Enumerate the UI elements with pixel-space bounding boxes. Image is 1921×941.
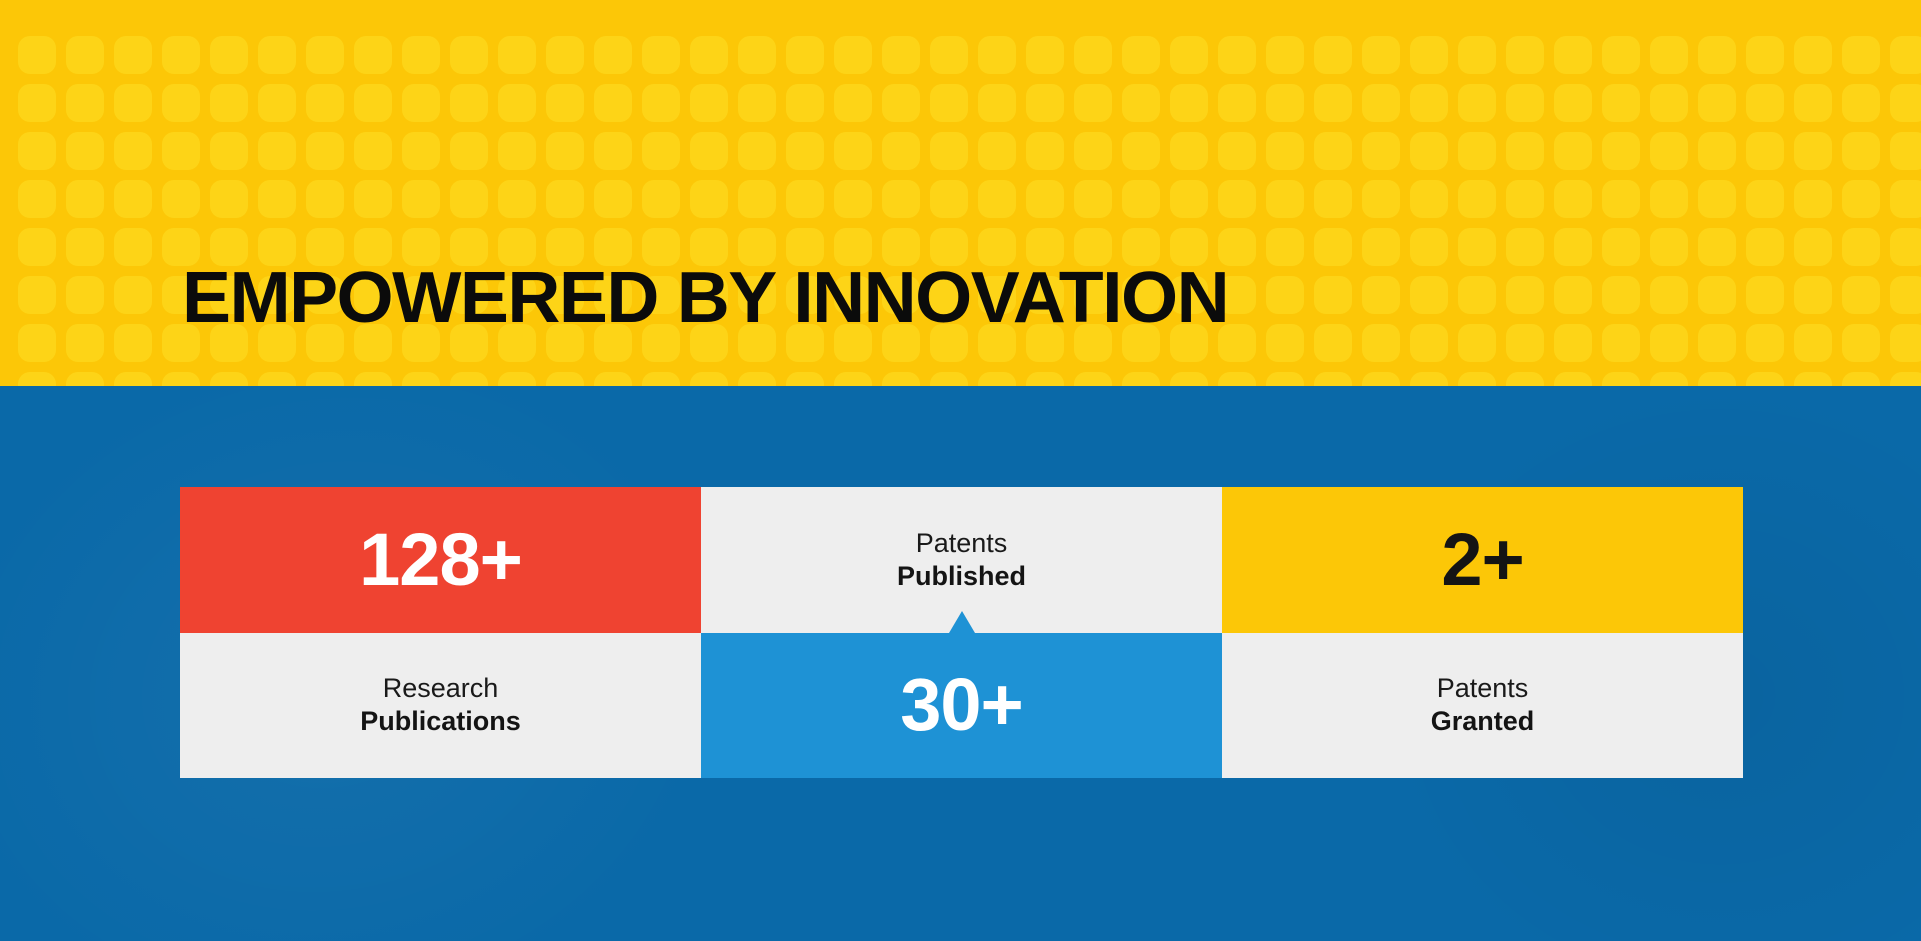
stat-label-bottom: Published (897, 560, 1026, 593)
stat-value-patents-published: 30+ (701, 633, 1222, 779)
stat-label-top: Research (383, 672, 499, 705)
stat-value: 128+ (359, 523, 522, 597)
stat-label-top: Patents (916, 527, 1008, 560)
stat-label-top: Patents (1437, 672, 1529, 705)
stat-label-research-publications: Research Publications (180, 633, 701, 779)
stat-value-patents-granted: 2+ (1222, 487, 1743, 633)
stat-value: 30+ (900, 668, 1023, 742)
stat-value-research-publications: 128+ (180, 487, 701, 633)
stat-value: 2+ (1441, 523, 1523, 597)
infographic-stage: EMPOWERED BY INNOVATION 128+ Patents Pub… (0, 0, 1921, 941)
stat-label-bottom: Granted (1431, 705, 1535, 738)
stats-grid: 128+ Patents Published 2+ Research Publi… (180, 487, 1743, 778)
header-band: EMPOWERED BY INNOVATION (0, 0, 1921, 386)
stat-label-patents-granted: Patents Granted (1222, 633, 1743, 779)
pointer-up-icon (949, 611, 975, 633)
stat-label-bottom: Publications (360, 705, 521, 738)
page-title: EMPOWERED BY INNOVATION (182, 262, 1228, 334)
